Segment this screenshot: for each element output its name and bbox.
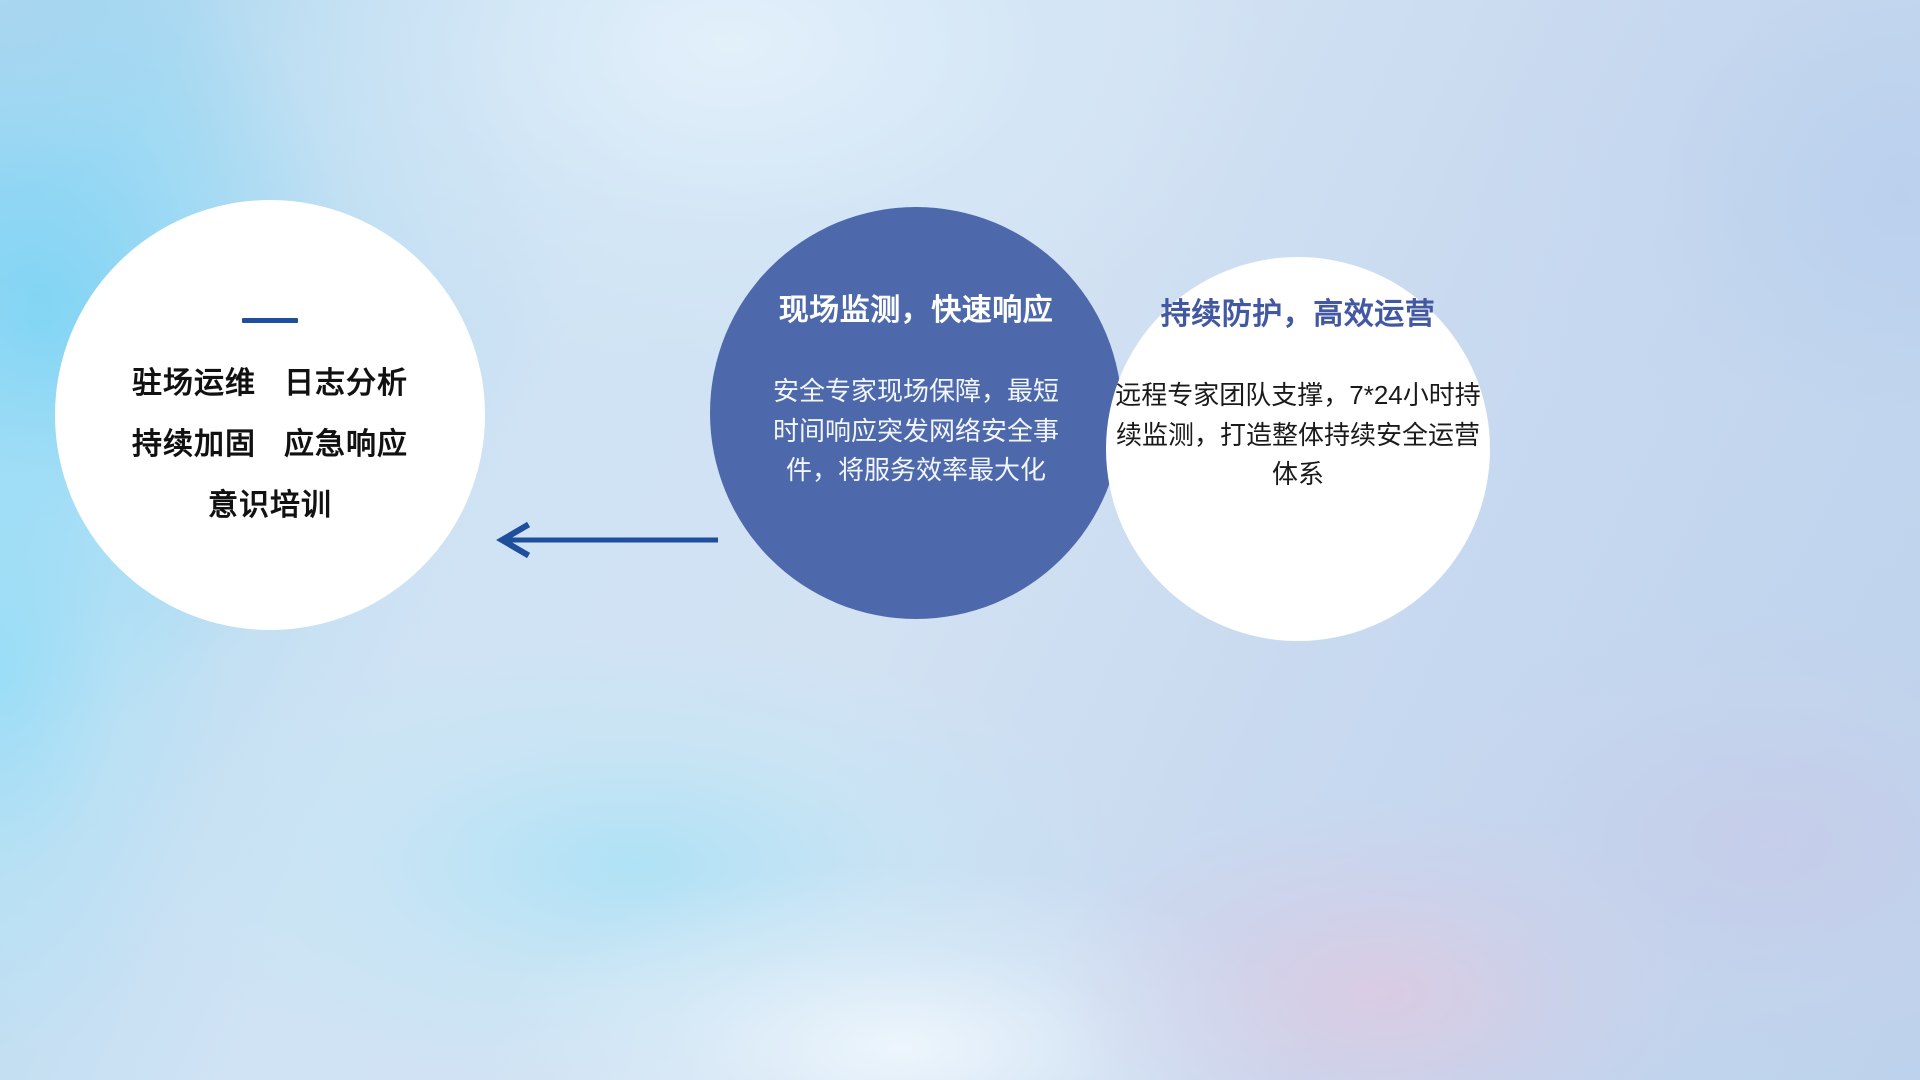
flow-arrow-left-icon (490, 520, 720, 560)
onsite-monitoring-content: 现场监测，快速响应 安全专家现场保障，最短时间响应突发网络安全事件，将服务效率最… (710, 207, 1122, 619)
slide-canvas: 驻场运维 日志分析 持续加固 应急响应 意识培训 现场监测，快速响应 安全专家现… (0, 0, 1920, 1080)
capability-line-3: 意识培训 (208, 491, 332, 521)
continuous-protection-content: 持续防护，高效运营 远程专家团队支撑，7*24小时持续监测，打造整体持续安全运营… (1106, 257, 1490, 641)
capability-line-1: 驻场运维 日志分析 (132, 369, 408, 399)
continuous-protection-heading: 持续防护，高效运营 (1161, 289, 1436, 333)
onsite-monitoring-body: 安全专家现场保障，最短时间响应突发网络安全事件，将服务效率最大化 (766, 372, 1066, 491)
continuous-protection-body: 远程专家团队支撑，7*24小时持续监测，打造整体持续安全运营体系 (1114, 376, 1482, 495)
divider-dash (242, 318, 298, 323)
capability-line-2: 持续加固 应急响应 (132, 430, 408, 460)
capabilities-content: 驻场运维 日志分析 持续加固 应急响应 意识培训 (55, 200, 485, 630)
onsite-monitoring-heading: 现场监测，快速响应 (779, 285, 1054, 329)
